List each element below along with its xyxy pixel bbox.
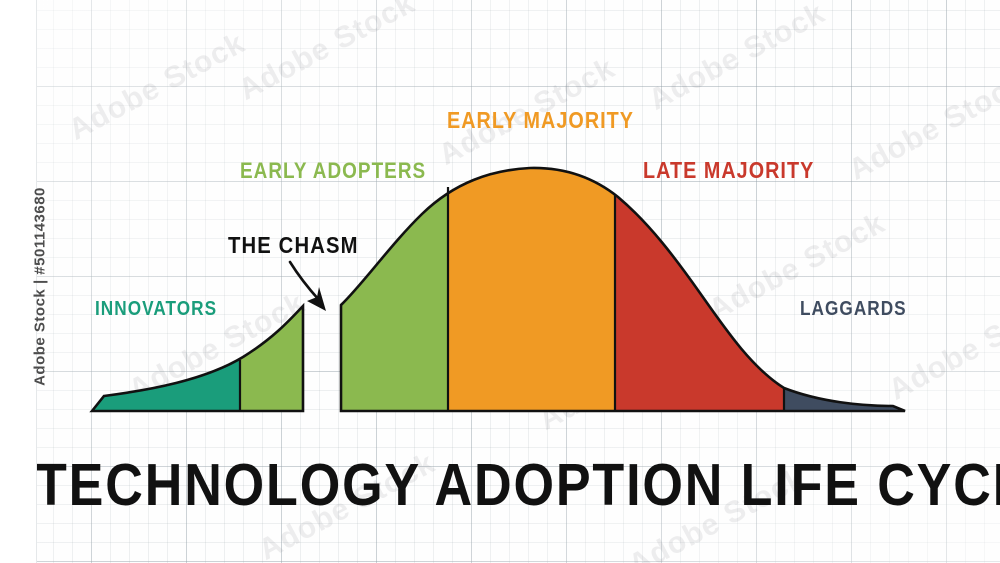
segment-label-early-adopters: EARLY ADOPTERS (240, 158, 426, 184)
segment-label-late-majority: LATE MAJORITY (643, 157, 814, 184)
watermark-sidebar: Adobe Stock | #501143680 (0, 0, 37, 563)
chasm-label: THE CHASM (228, 232, 359, 259)
page-title: TECHNOLOGY ADOPTION LIFE CYCLE (35, 450, 965, 519)
segment-label-early-majority: EARLY MAJORITY (447, 107, 634, 134)
watermark-credit: Adobe Stock | #501143680 (32, 87, 49, 487)
segment-label-laggards: LAGGARDS (800, 298, 907, 321)
curve-main-bell (341, 168, 905, 411)
curve-left-lobe (92, 306, 303, 411)
chasm-arrow-icon (290, 262, 326, 311)
segment-label-innovators: INNOVATORS (95, 298, 217, 321)
infographic-canvas: Adobe Stock Adobe Stock Adobe Stock Adob… (0, 0, 1000, 563)
